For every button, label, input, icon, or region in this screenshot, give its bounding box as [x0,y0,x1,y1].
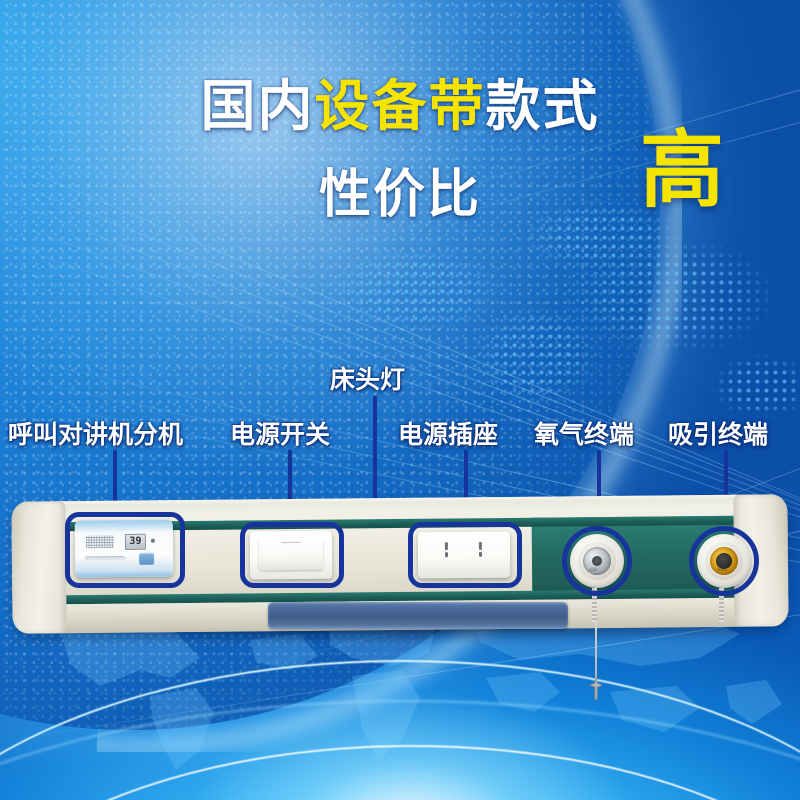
callout-label-intercom: 呼叫对讲机分机 [8,415,183,451]
callout-layer: 呼叫对讲机分机 电源开关 床头灯 电源插座 氧气终端 吸引终端 [0,0,800,800]
callout-label-power-socket: 电源插座 [398,415,498,451]
pull-cord-handle-icon[interactable] [588,676,604,702]
pull-cord[interactable] [595,620,597,682]
callout-label-oxygen: 氧气终端 [534,415,634,451]
panel-end-cap-left [11,501,66,634]
highlight-oxygen [562,526,632,596]
highlight-suction [689,526,759,596]
poster-canvas: 国内设备带款式 性价比 高 呼叫对讲机分机 电源开关 床头灯 电源插座 氧气终端… [0,0,800,800]
rail-slider-block[interactable] [268,602,568,629]
callout-label-power-switch: 电源开关 [230,415,330,451]
highlight-intercom [65,512,185,588]
callout-label-suction: 吸引终端 [668,415,768,451]
callout-label-bedside-lamp: 床头灯 [330,360,405,396]
highlight-power-socket [408,522,522,588]
highlight-power-switch [240,522,344,588]
